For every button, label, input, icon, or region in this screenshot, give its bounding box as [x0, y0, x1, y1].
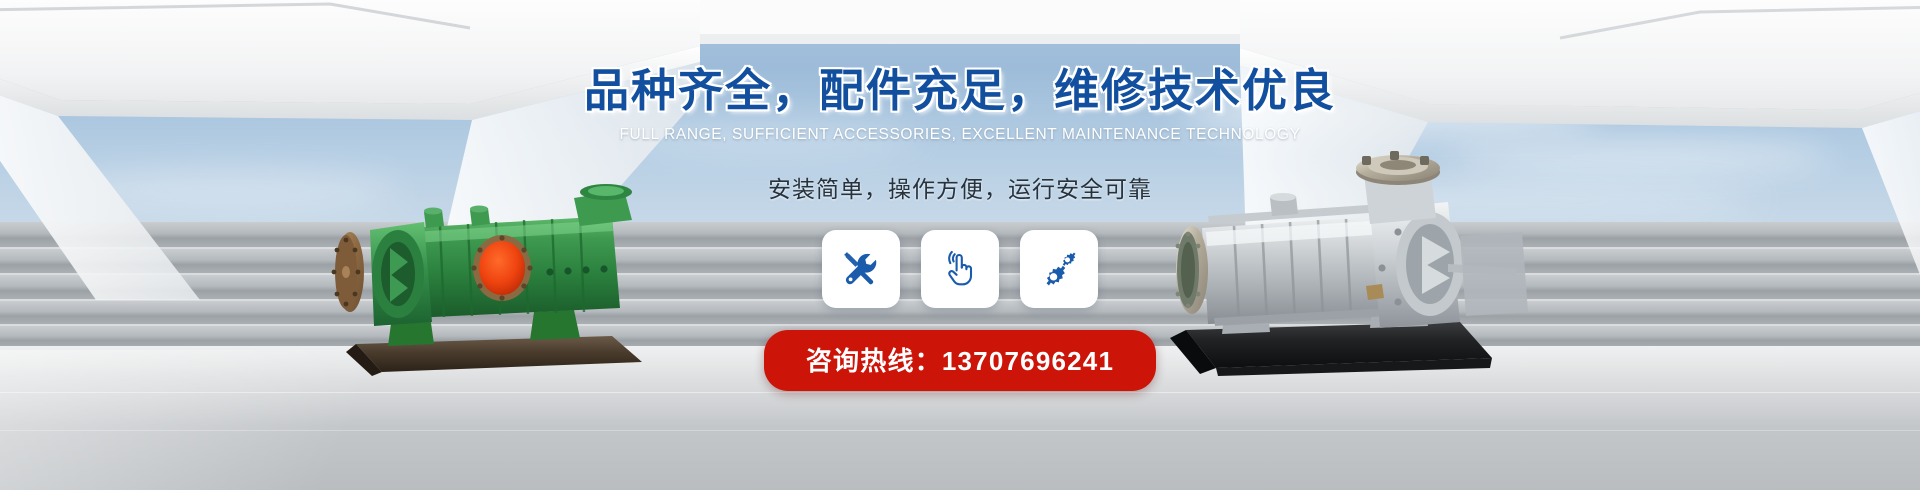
banner-content: 品种齐全，配件充足，维修技术优良 FULL RANGE, SUFFICIENT … [0, 0, 1920, 391]
tools-wrench-screwdriver-icon [841, 249, 881, 289]
feature-icon-row [0, 230, 1920, 308]
feature-tile-maintenance[interactable] [822, 230, 900, 308]
promo-banner: 品种齐全，配件充足，维修技术优良 FULL RANGE, SUFFICIENT … [0, 0, 1920, 490]
subtitle-english: FULL RANGE, SUFFICIENT ACCESSORIES, EXCE… [0, 126, 1920, 144]
feature-tile-operation[interactable] [921, 230, 999, 308]
hotline-badge[interactable]: 咨询热线：13707696241 [764, 330, 1156, 391]
gears-cogs-icon [1039, 249, 1079, 289]
page-title: 品种齐全，配件充足，维修技术优良 [0, 68, 1920, 113]
hand-touch-pointer-icon [940, 249, 980, 289]
subtitle-chinese: 安装简单，操作方便，运行安全可靠 [0, 170, 1920, 204]
feature-tile-technology[interactable] [1020, 230, 1098, 308]
